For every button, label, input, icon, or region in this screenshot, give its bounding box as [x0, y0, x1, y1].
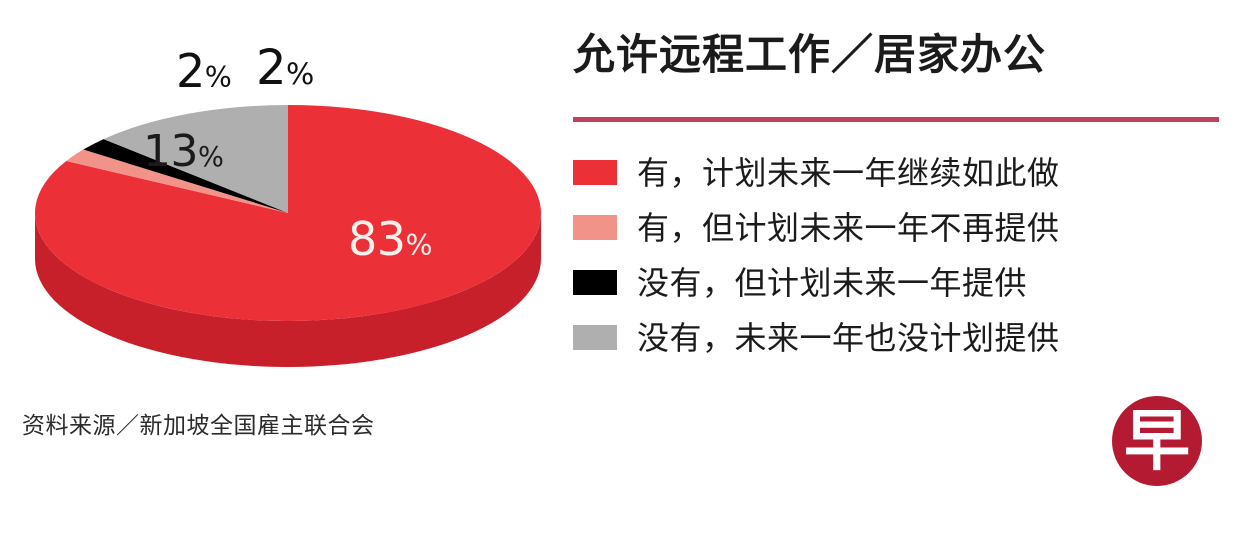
- legend-label: 没有，未来一年也没计划提供: [637, 322, 1060, 354]
- legend-item-yes-continue[interactable]: 有，计划未来一年继续如此做: [573, 145, 1243, 200]
- pie-label-salmon: 2%: [256, 44, 314, 92]
- pie-label-black: 2%: [176, 48, 231, 94]
- source-note: 资料来源／新加坡全国雇主联合会: [22, 406, 375, 440]
- legend-item-no-will-offer[interactable]: 没有，但计划未来一年提供: [573, 255, 1243, 310]
- zaobao-logo: 早: [1112, 392, 1202, 490]
- legend-label: 没有，但计划未来一年提供: [637, 267, 1027, 299]
- legend-swatch: [573, 325, 617, 350]
- page-title: 允许远程工作／居家办公: [573, 33, 1046, 77]
- title-underline-rule: [573, 117, 1219, 122]
- legend-label: 有，计划未来一年继续如此做: [637, 157, 1060, 189]
- legend-item-no-never[interactable]: 没有，未来一年也没计划提供: [573, 310, 1243, 365]
- pie-chart-panel: 2% 2% 13% 83%: [0, 0, 560, 400]
- legend-swatch: [573, 160, 617, 185]
- infographic-root: 2% 2% 13% 83% 资料来源／新加坡全国雇主联合会 允许远程工作／居家办…: [0, 0, 1251, 545]
- svg-text:早: 早: [1124, 403, 1190, 480]
- legend-swatch: [573, 215, 617, 240]
- pie-label-gray: 13%: [143, 130, 223, 174]
- legend-label: 有，但计划未来一年不再提供: [637, 212, 1060, 244]
- legend-swatch: [573, 270, 617, 295]
- legend: 有，计划未来一年继续如此做有，但计划未来一年不再提供没有，但计划未来一年提供没有…: [573, 145, 1243, 365]
- pie-label-red: 83%: [348, 216, 432, 262]
- legend-item-yes-stop[interactable]: 有，但计划未来一年不再提供: [573, 200, 1243, 255]
